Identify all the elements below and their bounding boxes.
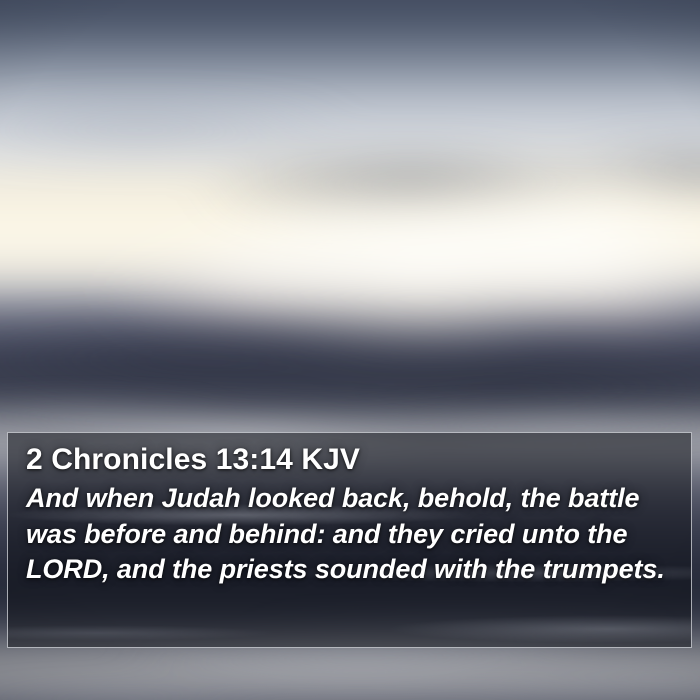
verse-reference: 2 Chronicles 13:14 KJV	[26, 441, 677, 481]
verse-overlay-card: 2 Chronicles 13:14 KJV And when Judah lo…	[7, 432, 692, 648]
verse-image-canvas: 2 Chronicles 13:14 KJV And when Judah lo…	[0, 0, 700, 700]
verse-body-text: And when Judah looked back, behold, the …	[26, 481, 677, 588]
